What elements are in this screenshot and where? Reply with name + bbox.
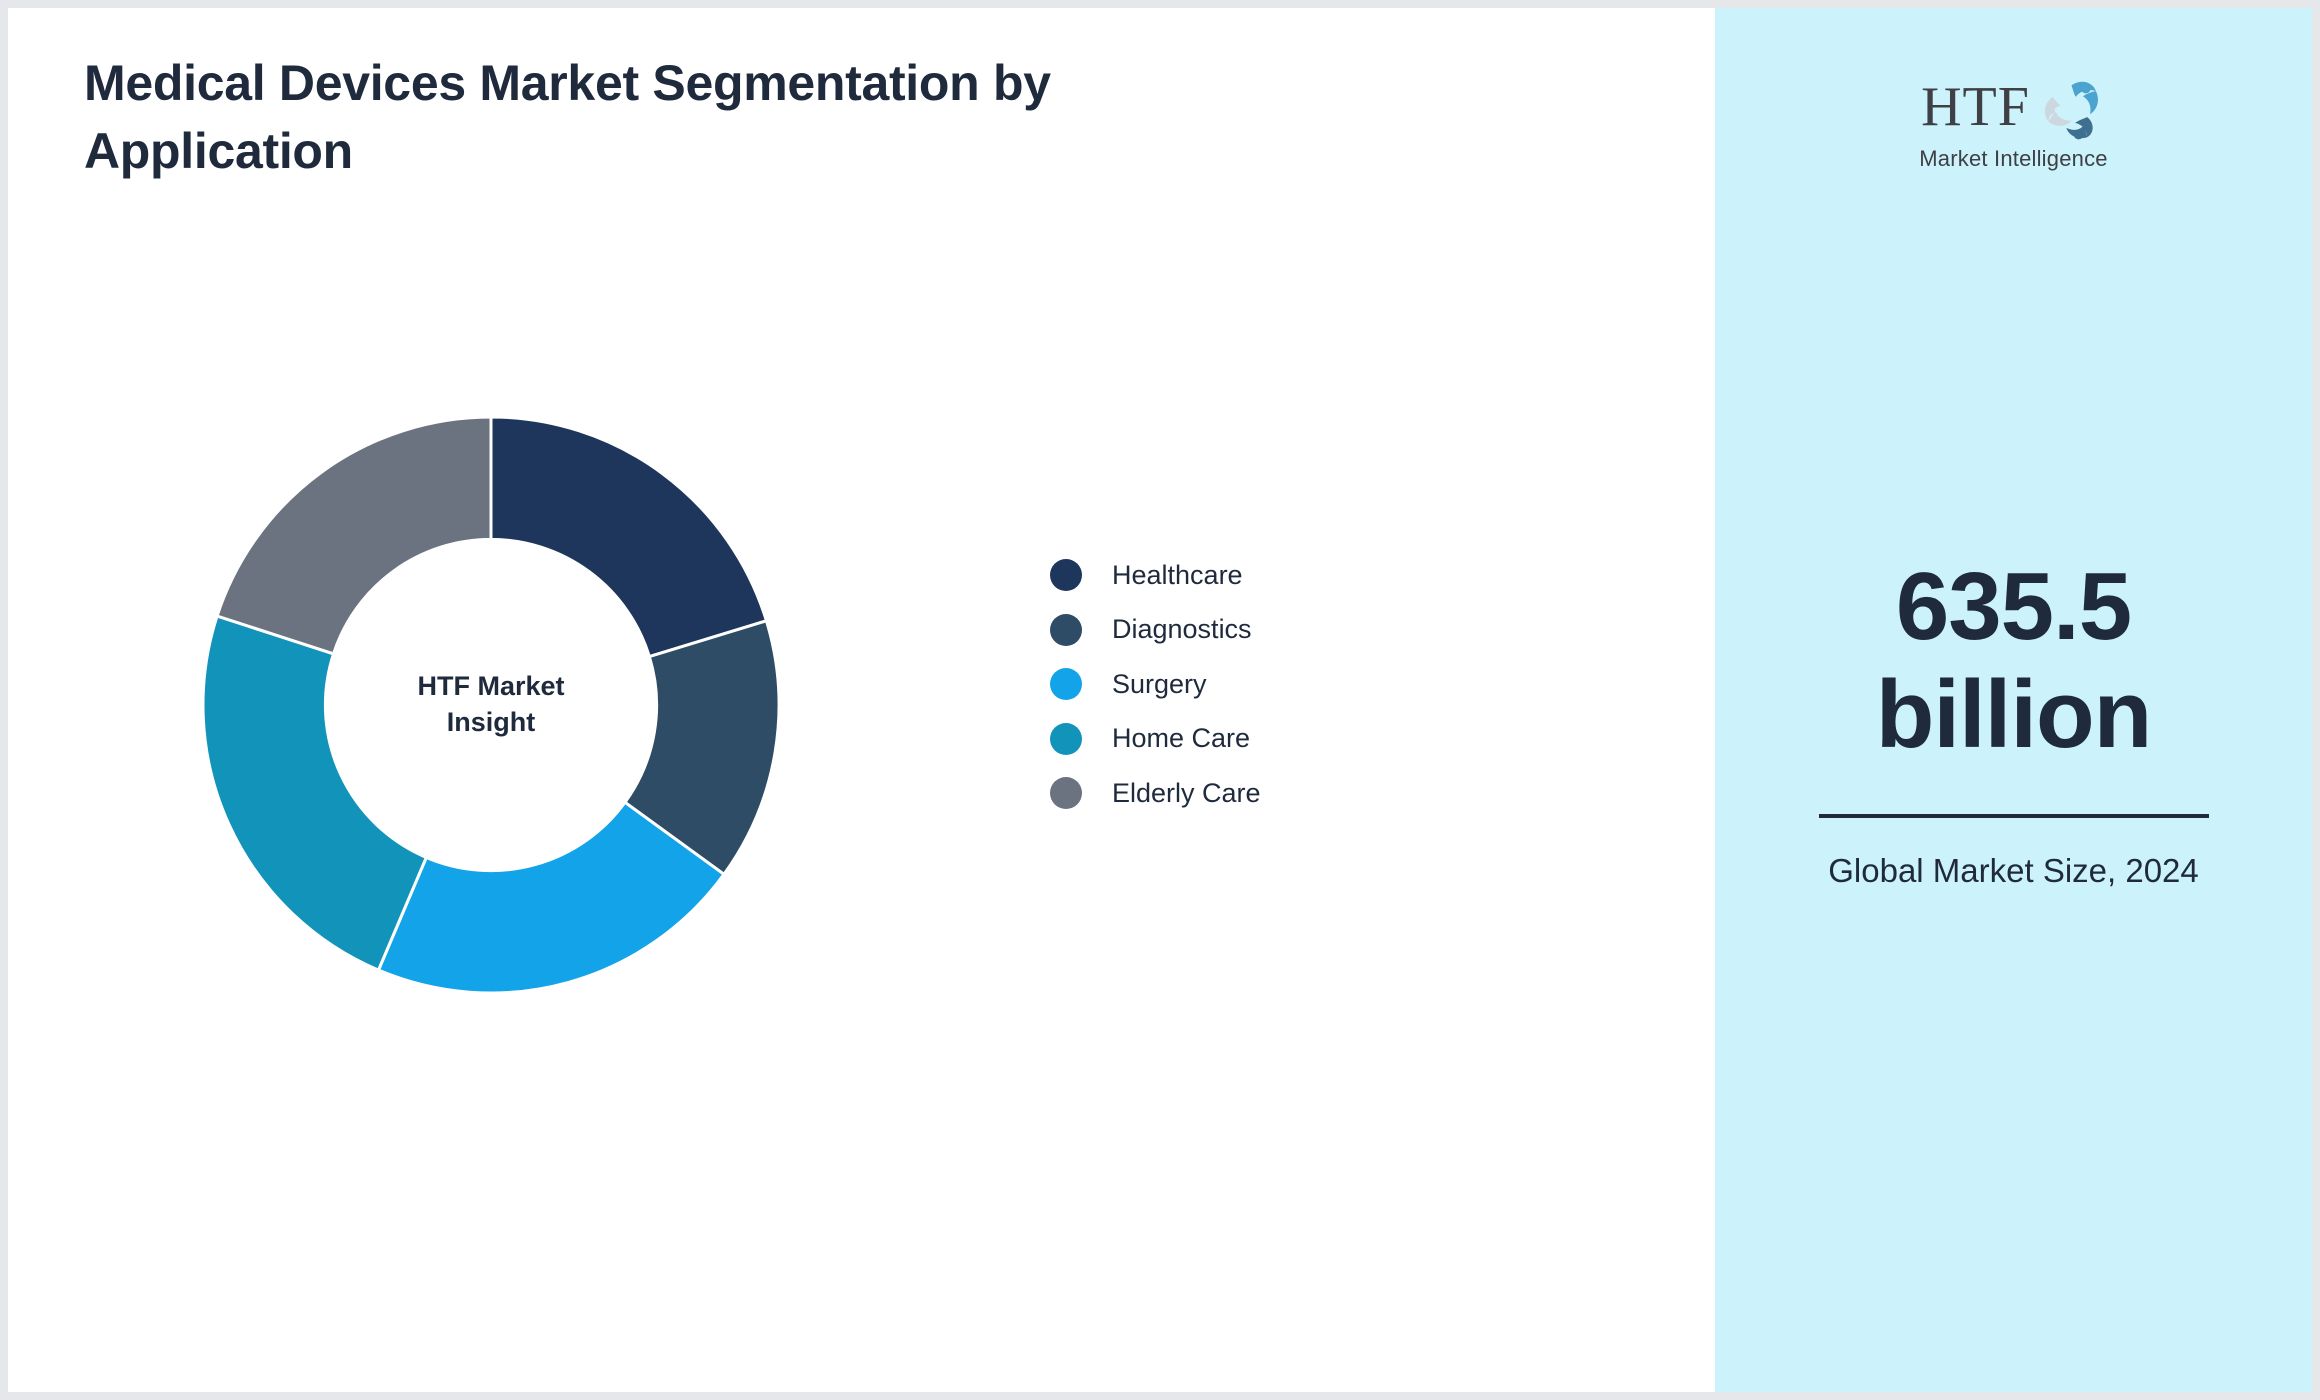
legend-swatch-icon [1050,668,1082,700]
logo-wordmark: HTF [1921,79,2030,135]
legend-swatch-icon [1050,723,1082,755]
legend-item: Elderly Care [1050,776,1261,810]
infographic-card: Medical Devices Market Segmentation by A… [8,8,2312,1392]
stat-pane: HTF [1715,8,2312,1392]
legend-swatch-icon [1050,614,1082,646]
legend-label: Diagnostics [1112,614,1252,645]
donut-chart: HTF Market Insight HealthcareDiagnostics… [8,8,1715,1392]
brand-logo: HTF [1894,70,2134,172]
legend-label: Home Care [1112,723,1250,754]
logo-mark-row: HTF [1894,70,2134,144]
logo-tagline: Market Intelligence [1894,146,2134,172]
legend-item: Surgery [1050,667,1261,701]
legend-swatch-icon [1050,777,1082,809]
triskelion-figures-icon [2034,71,2106,143]
stat-caption: Global Market Size, 2024 [1754,850,2274,892]
legend-swatch-icon [1050,559,1082,591]
legend-label: Surgery [1112,669,1207,700]
legend-label: Elderly Care [1112,778,1261,809]
stat-divider [1819,814,2209,818]
legend-item: Healthcare [1050,558,1261,592]
donut-slice-group [203,417,779,993]
legend-label: Healthcare [1112,560,1243,591]
legend-item: Diagnostics [1050,613,1261,647]
donut-slice [491,417,766,657]
chart-legend: HealthcareDiagnosticsSurgeryHome CareEld… [1050,558,1261,810]
chart-pane: Medical Devices Market Segmentation by A… [8,8,1715,1392]
donut-svg [203,417,779,993]
donut-graphic: HTF Market Insight [203,417,779,993]
legend-item: Home Care [1050,722,1261,756]
stat-value: 635.5 billion [1754,553,2274,768]
market-stat-block: 635.5 billion Global Market Size, 2024 [1754,553,2274,892]
donut-slice [217,417,491,654]
donut-slice [203,616,426,970]
